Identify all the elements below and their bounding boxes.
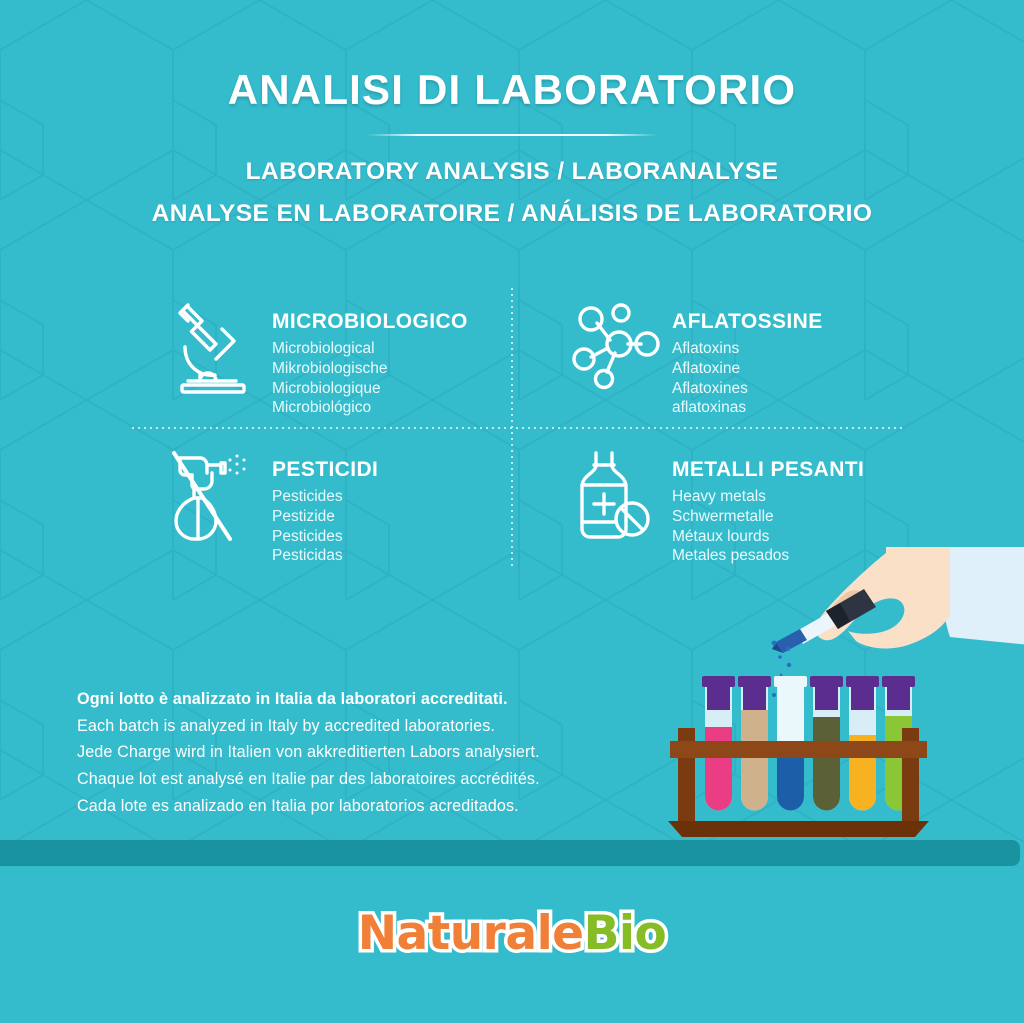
hand-shape — [816, 547, 950, 648]
vertical-dotted-divider — [511, 286, 513, 566]
feature-translation: Pestizide — [272, 507, 378, 527]
droplet-small-1 — [772, 641, 777, 646]
feature-translation: Pesticides — [272, 527, 378, 547]
feature-translation: Microbiologique — [272, 379, 468, 399]
footer: NaturaleBio — [0, 866, 1024, 1023]
feature-heading: MICROBIOLOGICO — [272, 311, 468, 332]
droplet-small-3 — [778, 655, 782, 659]
infographic-poster: ANALISI DI LABORATORIO LABORATORY ANALYS… — [0, 0, 1024, 1023]
feature-text-block: MICROBIOLOGICO Microbiological Mikrobiol… — [272, 295, 468, 418]
statement-line-it: Ogni lotto è analizzato in Italia da lab… — [77, 686, 637, 713]
feature-translation: Microbiológico — [272, 398, 468, 418]
molecule-icon — [568, 295, 660, 395]
feature-microbiologico: MICROBIOLOGICO Microbiological Mikrobiol… — [168, 295, 468, 418]
feature-heading: METALLI PESANTI — [672, 459, 864, 480]
feature-pesticidi: PESTICIDI Pesticides Pestizide Pesticide… — [168, 443, 378, 566]
chemical-bottle-forbidden-icon — [568, 443, 660, 543]
statement-line-de: Jede Charge wird in Italien von akkredit… — [77, 739, 637, 766]
rack-rail — [670, 741, 927, 758]
lab-illustration — [650, 545, 1024, 845]
feature-translation: Aflatoxines — [672, 379, 823, 399]
statement-line-en: Each batch is analyzed in Italy by accre… — [77, 713, 637, 740]
feature-translation: Métaux lourds — [672, 527, 864, 547]
page-title: ANALISI DI LABORATORIO — [0, 0, 1024, 114]
droplet-small-4 — [787, 663, 791, 667]
spray-bottle-crossed-icon — [168, 443, 260, 543]
microscope-icon — [168, 295, 260, 395]
feature-aflatossine: AFLATOSSINE Aflatoxins Aflatoxine Aflato… — [568, 295, 823, 418]
subtitle-line-1: LABORATORY ANALYSIS / LABORANALYSE — [0, 160, 1024, 185]
brand-logo: NaturaleBio — [0, 910, 1024, 957]
horizontal-dotted-divider — [130, 427, 906, 429]
droplet-small-2 — [786, 647, 790, 651]
feature-translation: Pesticidas — [272, 546, 378, 566]
title-divider-rule — [366, 134, 658, 136]
logo-text-bio: Bio — [584, 910, 667, 957]
feature-text-block: PESTICIDI Pesticides Pestizide Pesticide… — [272, 443, 378, 566]
feature-translation: Pesticides — [272, 487, 378, 507]
droplet-small-5 — [772, 693, 776, 697]
feature-translation: Aflatoxins — [672, 339, 823, 359]
feature-text-block: AFLATOSSINE Aflatoxins Aflatoxine Aflato… — [672, 295, 823, 418]
header: ANALISI DI LABORATORIO LABORATORY ANALYS… — [0, 0, 1024, 226]
feature-translation: Schwermetalle — [672, 507, 864, 527]
feature-translation: Mikrobiologische — [272, 359, 468, 379]
feature-translation: Microbiological — [272, 339, 468, 359]
feature-heading: PESTICIDI — [272, 459, 378, 480]
feature-heading: AFLATOSSINE — [672, 311, 823, 332]
statement-line-fr: Chaque lot est analysé en Italie par des… — [77, 766, 637, 793]
lab-coat-sleeve — [938, 547, 1024, 645]
statement-block: Ogni lotto è analizzato in Italia da lab… — [77, 686, 637, 820]
desk-surface-bar — [0, 840, 1020, 866]
subtitle-line-2: ANALYSE EN LABORATOIRE / ANÁLISIS DE LAB… — [0, 202, 1024, 227]
statement-line-es: Cada lote es analizado en Italia por lab… — [77, 793, 637, 820]
feature-translation: Heavy metals — [672, 487, 864, 507]
rack-base — [668, 821, 929, 837]
feature-translation: Aflatoxine — [672, 359, 823, 379]
feature-translation: aflatoxinas — [672, 398, 823, 418]
logo-text-naturale: Naturale — [358, 910, 584, 957]
